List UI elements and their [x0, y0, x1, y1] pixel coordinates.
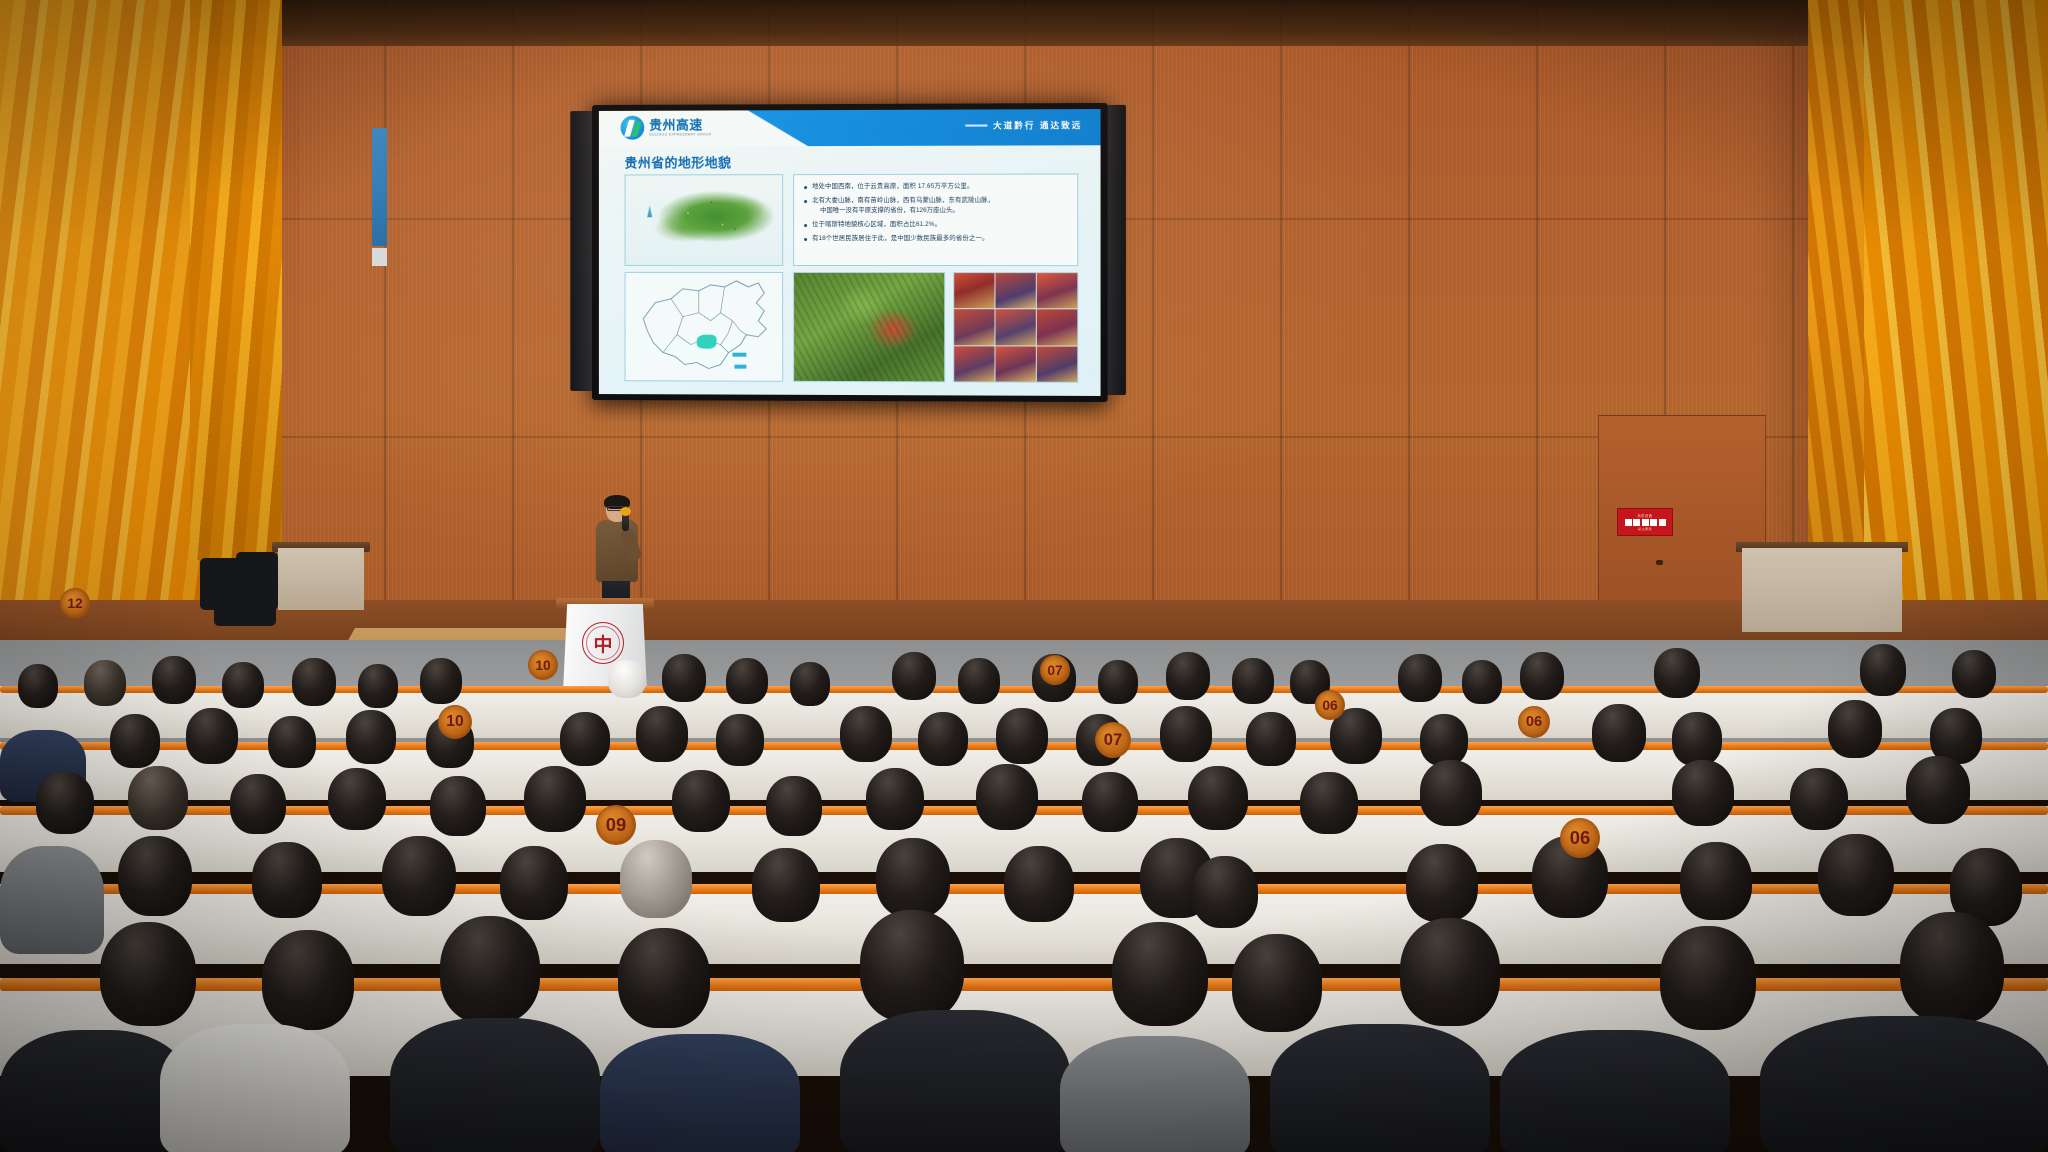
slide-bullet-panel: 地处中国西南，位于云贵高原，面积 17.65万平方公里。 北有大娄山脉，南有苗岭… [793, 174, 1078, 267]
audience-head [346, 710, 396, 764]
audience-head [560, 712, 610, 766]
china-outline-icon [626, 273, 784, 382]
audience-body [1760, 1016, 2048, 1152]
audience-head [252, 842, 322, 918]
audience-head [672, 770, 730, 832]
seat-number-badge: 09 [596, 805, 636, 845]
audience-body [1270, 1024, 1490, 1152]
logo-english-name: GUIZHOU EXPRESSWAY GROUP [649, 133, 711, 137]
audience-head [328, 768, 386, 830]
china-location-map-panel [625, 272, 784, 382]
audience-head [128, 766, 188, 830]
audience-head [1906, 756, 1970, 824]
audience-head [1680, 842, 1752, 920]
audience-head [1828, 700, 1882, 758]
curtain-left-overlay [0, 0, 200, 700]
bullet-item: 地处中国西南，位于云贵高原，面积 17.65万平方公里。 [804, 182, 1069, 192]
audience-head [1188, 766, 1248, 830]
bullet-item: 有18个世居民族居住于此，是中国少数民族最多的省份之一。 [804, 234, 1069, 244]
bullet-dot-icon [804, 238, 807, 241]
audience-head [1462, 660, 1502, 704]
slide-title: 贵州省的地形地貌 [625, 152, 732, 171]
audience-head [866, 768, 924, 830]
audience-head [860, 910, 964, 1022]
audience-head [420, 658, 462, 704]
university-emblem: 中 [582, 622, 624, 664]
seat-number-badge: 12 [60, 588, 90, 618]
seat-number-badge: 06 [1315, 690, 1345, 720]
mountain-porter-photo [793, 272, 945, 382]
audience-head [1160, 706, 1212, 762]
right-bench [1742, 548, 1902, 632]
bullet-text: 有18个世居民族居住于此，是中国少数民族最多的省份之一。 [812, 234, 988, 244]
audience-head [618, 928, 710, 1028]
door-handle[interactable] [1656, 560, 1663, 565]
company-logo: 贵州高速 GUIZHOU EXPRESSWAY GROUP [621, 116, 712, 140]
collage-grid [954, 273, 1077, 382]
audience-head [358, 664, 398, 708]
seat-number-badge: 06 [1518, 706, 1550, 738]
audience-head [662, 654, 706, 702]
audience-head [110, 714, 160, 768]
audience-head [440, 916, 540, 1024]
audience-body [390, 1018, 600, 1152]
terrain-relief-map-panel [625, 174, 784, 266]
curtain-left-inner [190, 0, 282, 560]
audience-head [1592, 704, 1646, 762]
audience-head [1192, 856, 1258, 928]
audience-head [1790, 768, 1848, 830]
slogan-dash-icon [965, 125, 987, 127]
ceiling-beam [0, 0, 2048, 46]
logo-chinese-name: 贵州高速 [649, 118, 711, 131]
audience-head [918, 712, 968, 766]
audience-head [1300, 772, 1358, 834]
audience-head [292, 658, 336, 706]
audience-head [1398, 654, 1442, 702]
safety-sign-top-label: 消防设施 [1637, 513, 1652, 518]
bullet-text: 位于喀斯特地貌核心区域，面积占比61.2%。 [812, 220, 941, 230]
audience-body [160, 1024, 350, 1152]
side-table [278, 548, 364, 610]
audience-head [976, 764, 1038, 830]
audience-head [1672, 760, 1734, 826]
audience-head [726, 658, 768, 704]
audience-head [1232, 658, 1274, 704]
safety-sign-boxes [1625, 519, 1666, 526]
seat-number-badge: 07 [1095, 722, 1131, 758]
slogan-text: 大道黔行 通达致远 [993, 119, 1082, 131]
audience-body [0, 846, 104, 954]
audience-head [1112, 922, 1208, 1026]
audience-head [620, 840, 692, 918]
audience-head [100, 922, 196, 1026]
audience-head [1406, 844, 1478, 922]
audience-head [524, 766, 586, 832]
audience-head [766, 776, 822, 836]
audience-head [36, 772, 94, 834]
slide-slogan: 大道黔行 通达致远 [965, 119, 1082, 131]
ethnic-costume-collage [953, 272, 1078, 383]
wall-mounted-white-panel [372, 248, 387, 266]
audience-head [876, 838, 950, 918]
lecture-hall-scene: 消防设施 禁止挪用 贵州高速 GUIZHOU EXPRESSWAY GROUP [0, 0, 2048, 1152]
seat-number-badge: 10 [528, 650, 558, 680]
audience-body [1060, 1036, 1250, 1152]
presenter [588, 497, 644, 609]
bullet-text-continued: 中国唯一没有平原支撑的省份，有126万座山头。 [820, 206, 994, 216]
presentation-slide: 贵州高速 GUIZHOU EXPRESSWAY GROUP 大道黔行 通达致远 … [599, 109, 1101, 396]
screen-bezel-right [1108, 105, 1126, 395]
audience-head [268, 716, 316, 768]
audience-head [1818, 834, 1894, 916]
bullet-text: 地处中国西南，位于云贵高原，面积 17.65万平方公里。 [812, 182, 973, 192]
audience-head [1246, 712, 1296, 766]
audience-head [1900, 912, 2004, 1024]
wall-mounted-blue-panel [372, 128, 387, 246]
bullet-dot-icon [804, 186, 807, 189]
microphone-head-icon [620, 507, 631, 516]
audience-body [1500, 1030, 1730, 1152]
screen-bezel-left [570, 111, 592, 391]
audience-head [1098, 660, 1138, 704]
audience-head-capped [608, 660, 646, 698]
audience-head [1166, 652, 1210, 700]
audience-head [186, 708, 238, 764]
audience-head [1952, 650, 1996, 698]
audience-head [1420, 714, 1468, 766]
seat-number-badge: 07 [1040, 655, 1070, 685]
fire-safety-sign: 消防设施 禁止挪用 [1617, 508, 1673, 536]
bullet-item: 位于喀斯特地貌核心区域，面积占比61.2%。 [804, 220, 1069, 230]
audience-head [1400, 918, 1500, 1026]
audience-head [1004, 846, 1074, 922]
audience-head [262, 930, 354, 1030]
safety-sign-bottom-label: 禁止挪用 [1638, 527, 1652, 531]
audience-head [958, 658, 1000, 704]
audience-head [1082, 772, 1138, 832]
terrain-texture [626, 175, 783, 265]
bullet-dot-icon [804, 224, 807, 227]
audience-head [500, 846, 568, 920]
audience-head [1660, 926, 1756, 1030]
audience-body [600, 1034, 800, 1152]
bullet-text: 北有大娄山脉，南有苗岭山脉，西有乌蒙山脉，东有武陵山脉， [812, 196, 994, 206]
map-legend-bar-1 [732, 353, 746, 357]
bullet-item: 北有大娄山脉，南有苗岭山脉，西有乌蒙山脉，东有武陵山脉， 中国唯一没有平原支撑的… [804, 196, 1069, 216]
audience-head [1232, 934, 1322, 1032]
map-legend-bar-2 [734, 365, 746, 369]
audience-head [18, 664, 58, 708]
audience-head [716, 714, 764, 766]
audience-head [230, 774, 286, 834]
bullet-dot-icon [804, 200, 807, 203]
audience-head [636, 706, 688, 762]
projection-screen[interactable]: 贵州高速 GUIZHOU EXPRESSWAY GROUP 大道黔行 通达致远 … [592, 103, 1108, 402]
seat-number-badge: 10 [438, 705, 472, 739]
audience-head [382, 836, 456, 916]
expressway-logo-icon [621, 116, 645, 140]
audience-head [1672, 712, 1722, 766]
china-map-art [626, 273, 783, 381]
audience-head [118, 836, 192, 916]
audience-body [840, 1010, 1070, 1152]
audience-head [84, 660, 126, 706]
audience-head [152, 656, 196, 704]
audience-head [892, 652, 936, 700]
audience-head [1654, 648, 1700, 698]
seat-number-badge: 06 [1560, 818, 1600, 858]
audience-head [996, 708, 1048, 764]
audience-head [222, 662, 264, 708]
jungle-photo-art [794, 273, 944, 381]
audience-head [840, 706, 892, 762]
audience-head [1520, 652, 1564, 700]
audience-head [1420, 760, 1482, 826]
audience-head [752, 848, 820, 922]
audience-head [430, 776, 486, 836]
audience-head [1860, 644, 1906, 696]
audience-head [790, 662, 830, 706]
guizhou-highlight [697, 335, 717, 349]
